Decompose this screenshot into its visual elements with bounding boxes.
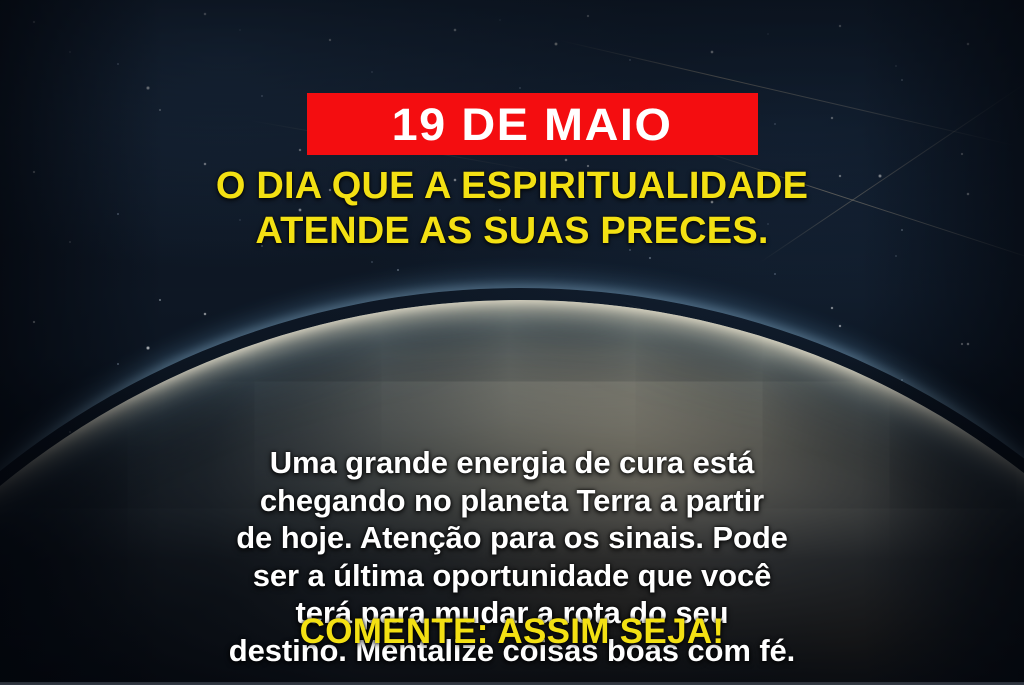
poster-content: 19 DE MAIO O DIA QUE A ESPIRITUALIDADE A… (0, 0, 1024, 685)
headline-line-1: O DIA QUE A ESPIRITUALIDADE (0, 164, 1024, 209)
poster-canvas: 19 DE MAIO O DIA QUE A ESPIRITUALIDADE A… (0, 0, 1024, 685)
body-line-2: chegando no planeta Terra a partir (52, 482, 972, 520)
date-banner: 19 DE MAIO (307, 93, 758, 155)
body-line-3: de hoje. Atenção para os sinais. Pode (52, 519, 972, 557)
date-banner-text: 19 DE MAIO (392, 102, 673, 147)
body-line-4: ser a última oportunidade que você (52, 557, 972, 595)
call-to-action-text: COMENTE: ASSIM SEJA! (0, 613, 1024, 652)
headline-line-2: ATENDE AS SUAS PRECES. (0, 209, 1024, 254)
body-line-1: Uma grande energia de cura está (52, 444, 972, 482)
headline: O DIA QUE A ESPIRITUALIDADE ATENDE AS SU… (0, 164, 1024, 254)
